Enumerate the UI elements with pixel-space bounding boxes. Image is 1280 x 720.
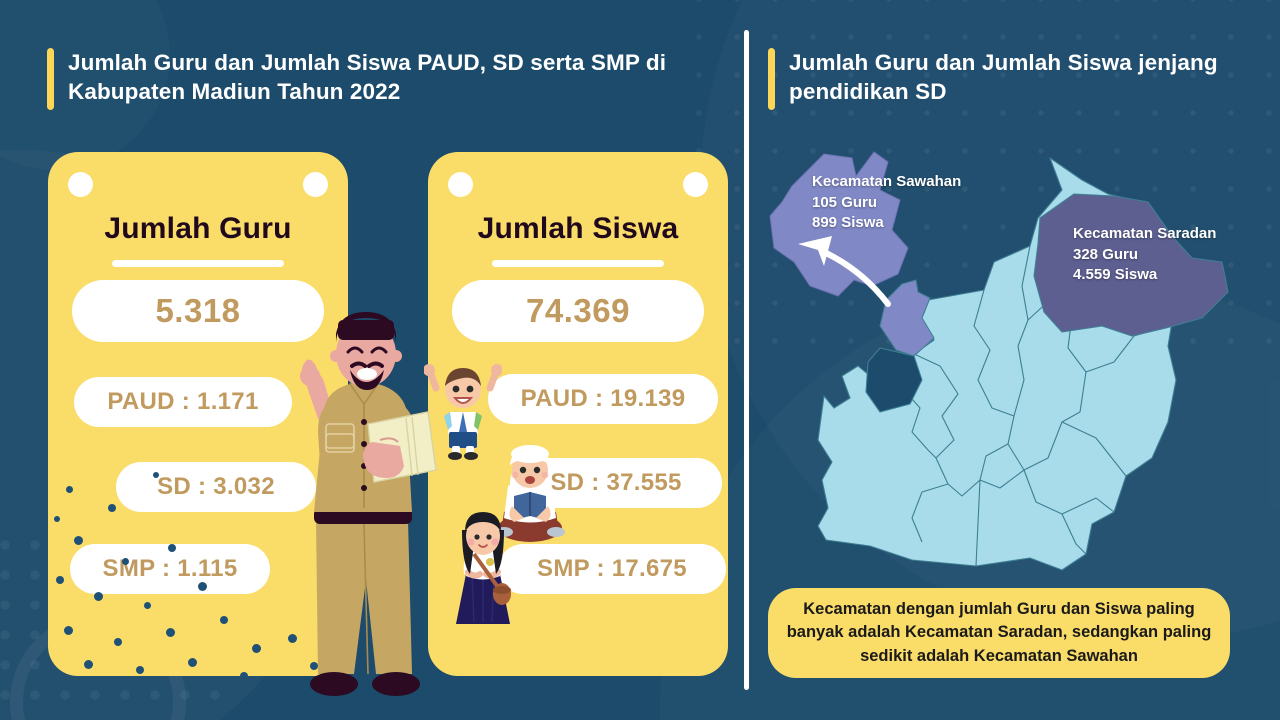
- map-label-saradan: Kecamatan Saradan 328 Guru 4.559 Siswa: [1073, 224, 1216, 286]
- title-accent-bar: [47, 48, 54, 110]
- card-siswa-heading: Jumlah Siswa: [428, 212, 728, 246]
- card-guru-smp: SMP : 1.115: [70, 544, 270, 594]
- card-guru-heading: Jumlah Guru: [48, 212, 348, 246]
- card-siswa-paud: PAUD : 19.139: [488, 374, 718, 424]
- title-accent-bar: [768, 48, 775, 110]
- right-title-text: Jumlah Guru dan Jumlah Siswa jenjang pen…: [789, 48, 1238, 107]
- infographic-canvas: Jumlah Guru dan Jumlah Siswa PAUD, SD se…: [0, 0, 1280, 720]
- map-label-saradan-name: Kecamatan Saradan: [1073, 224, 1216, 245]
- map-caption: Kecamatan dengan jumlah Guru dan Siswa p…: [768, 588, 1230, 678]
- card-hole-right-icon: [683, 172, 708, 197]
- card-siswa-smp: SMP : 17.675: [498, 544, 726, 594]
- left-panel-title: Jumlah Guru dan Jumlah Siswa PAUD, SD se…: [47, 48, 727, 110]
- map-label-sawahan-teachers: 105 Guru: [812, 193, 961, 214]
- panel-divider: [744, 30, 749, 690]
- card-siswa-total: 74.369: [452, 280, 704, 342]
- card-hole-right-icon: [303, 172, 328, 197]
- map-label-saradan-students: 4.559 Siswa: [1073, 265, 1216, 286]
- map-label-sawahan: Kecamatan Sawahan 105 Guru 899 Siswa: [812, 172, 961, 234]
- map-label-sawahan-students: 899 Siswa: [812, 213, 961, 234]
- card-hole-left-icon: [68, 172, 93, 197]
- right-panel-title: Jumlah Guru dan Jumlah Siswa jenjang pen…: [768, 48, 1238, 110]
- left-title-text: Jumlah Guru dan Jumlah Siswa PAUD, SD se…: [68, 48, 727, 107]
- card-hole-left-icon: [448, 172, 473, 197]
- map-label-sawahan-name: Kecamatan Sawahan: [812, 172, 961, 193]
- map-label-saradan-teachers: 328 Guru: [1073, 245, 1216, 266]
- card-siswa-underline: [492, 260, 664, 267]
- student-girl-illustration: [446, 506, 520, 632]
- card-guru-underline: [112, 260, 284, 267]
- card-guru-paud: PAUD : 1.171: [74, 377, 292, 427]
